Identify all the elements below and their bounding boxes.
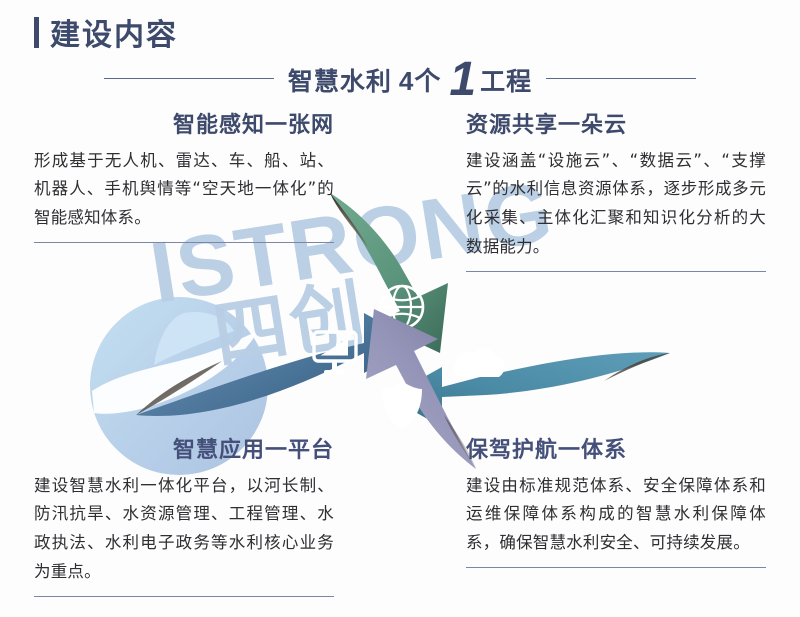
quadrant-heading: 智慧应用一平台 xyxy=(34,437,334,465)
quadrant-body: 建设涵盖“设施云”、“数据云”、“支撑云”的水利信息资源体系，逐步形成多元化采集… xyxy=(466,147,766,263)
quadrant-body: 建设由标准规范体系、安全保障体系和运维保障体系构成的智慧水利保障体系，确保智慧水… xyxy=(466,472,766,559)
subtitle-suffix: 工程 xyxy=(480,62,532,98)
quadrant-body: 建设智慧水利一体化平台，以河长制、防汛抗旱、水资源管理、工程管理、水政执法、水利… xyxy=(34,472,334,588)
page-title: 建设内容 xyxy=(34,10,178,54)
subtitle-prefix: 智慧水利 xyxy=(288,62,392,98)
quadrant-top-left: 智能感知一张网 形成基于无人机、雷达、车、船、站、机器人、手机舆情等“空天地一体… xyxy=(34,112,334,243)
subtitle-big-number: 1 xyxy=(449,63,477,97)
title-text: 建设内容 xyxy=(50,10,178,54)
infographic-page: ISTRONG 四创 建设内容 智慧水利 4个 1 工程 xyxy=(0,0,800,617)
quadrant-heading: 资源共享一朵云 xyxy=(466,112,766,140)
shield-icon xyxy=(382,381,422,429)
title-accent-bar xyxy=(34,17,39,48)
quadrant-rule xyxy=(34,242,334,243)
subtitle-text: 智慧水利 4个 1 工程 xyxy=(288,58,532,98)
quadrant-bottom-right: 保驾护航一体系 建设由标准规范体系、安全保障体系和运维保障体系构成的智慧水利保障… xyxy=(466,437,766,568)
quadrant-bottom-left: 智慧应用一平台 建设智慧水利一体化平台，以河长制、防汛抗旱、水资源管理、工程管理… xyxy=(34,437,334,597)
subtitle-rule-left xyxy=(104,78,274,79)
subtitle-rule-right xyxy=(546,78,696,79)
quadrant-body: 形成基于无人机、雷达、车、船、站、机器人、手机舆情等“空天地一体化”的智能感知体… xyxy=(34,147,334,234)
subtitle-row: 智慧水利 4个 1 工程 xyxy=(0,58,800,98)
quadrant-rule xyxy=(34,596,334,597)
quadrant-rule xyxy=(466,567,766,568)
cloud-icon xyxy=(454,348,505,377)
quadrant-top-right: 资源共享一朵云 建设涵盖“设施云”、“数据云”、“支撑云”的水利信息资源体系，逐… xyxy=(466,112,766,272)
subtitle-count: 4个 xyxy=(399,61,441,98)
quadrant-heading: 保驾护航一体系 xyxy=(466,437,766,465)
quadrant-rule xyxy=(466,271,766,272)
quadrant-heading: 智能感知一张网 xyxy=(34,112,334,140)
